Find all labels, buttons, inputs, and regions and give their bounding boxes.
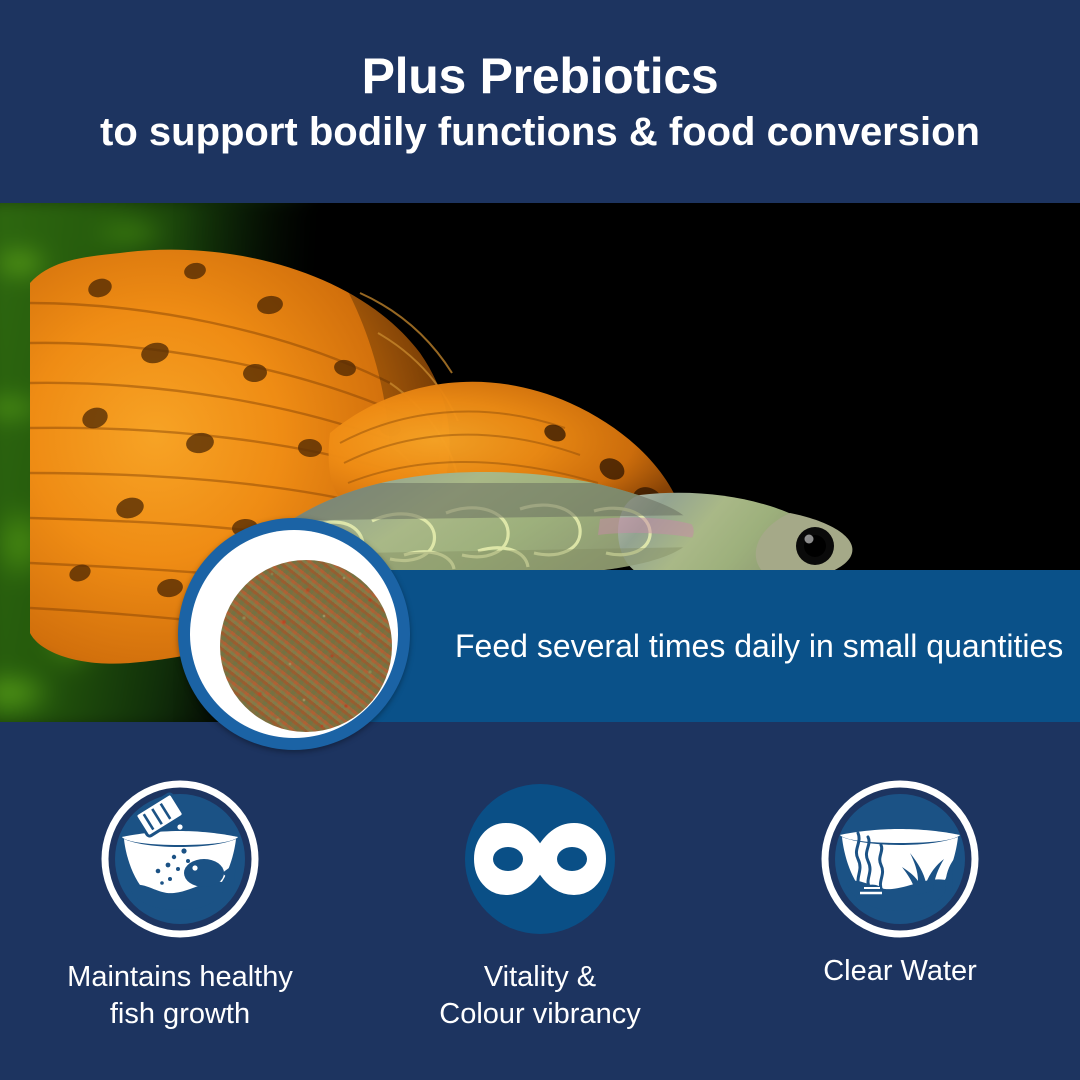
fish-bowl-feeding-icon bbox=[100, 779, 260, 939]
header-band: Plus Prebiotics to support bodily functi… bbox=[0, 0, 1080, 203]
benefit-label: Clear Water bbox=[720, 953, 1080, 990]
fish-food-inset bbox=[178, 518, 410, 750]
feed-instruction-text: Feed several times daily in small quanti… bbox=[455, 628, 1063, 665]
header-title: Plus Prebiotics bbox=[362, 50, 719, 103]
aquarium-plants-icon bbox=[820, 779, 980, 939]
infinity-icon bbox=[460, 779, 620, 939]
benefit-maintains-healthy-fish-growth: Maintains healthy fish growth bbox=[0, 722, 360, 1033]
fish-food-inset-white-ring bbox=[190, 530, 398, 738]
header-subtitle: to support bodily functions & food conve… bbox=[100, 111, 980, 153]
benefits-section: Maintains healthy fish growth Vitality &… bbox=[0, 722, 1080, 1080]
fish-food-granules-image bbox=[220, 560, 392, 732]
benefit-vitality-colour-vibrancy: Vitality & Colour vibrancy bbox=[360, 722, 720, 1033]
benefit-label: Vitality & Colour vibrancy bbox=[360, 959, 720, 1033]
product-feature-panel: Plus Prebiotics to support bodily functi… bbox=[0, 0, 1080, 1080]
benefit-clear-water: Clear Water bbox=[720, 722, 1080, 990]
feed-instruction-banner: Feed several times daily in small quanti… bbox=[300, 570, 1080, 722]
benefit-label: Maintains healthy fish growth bbox=[0, 959, 360, 1033]
